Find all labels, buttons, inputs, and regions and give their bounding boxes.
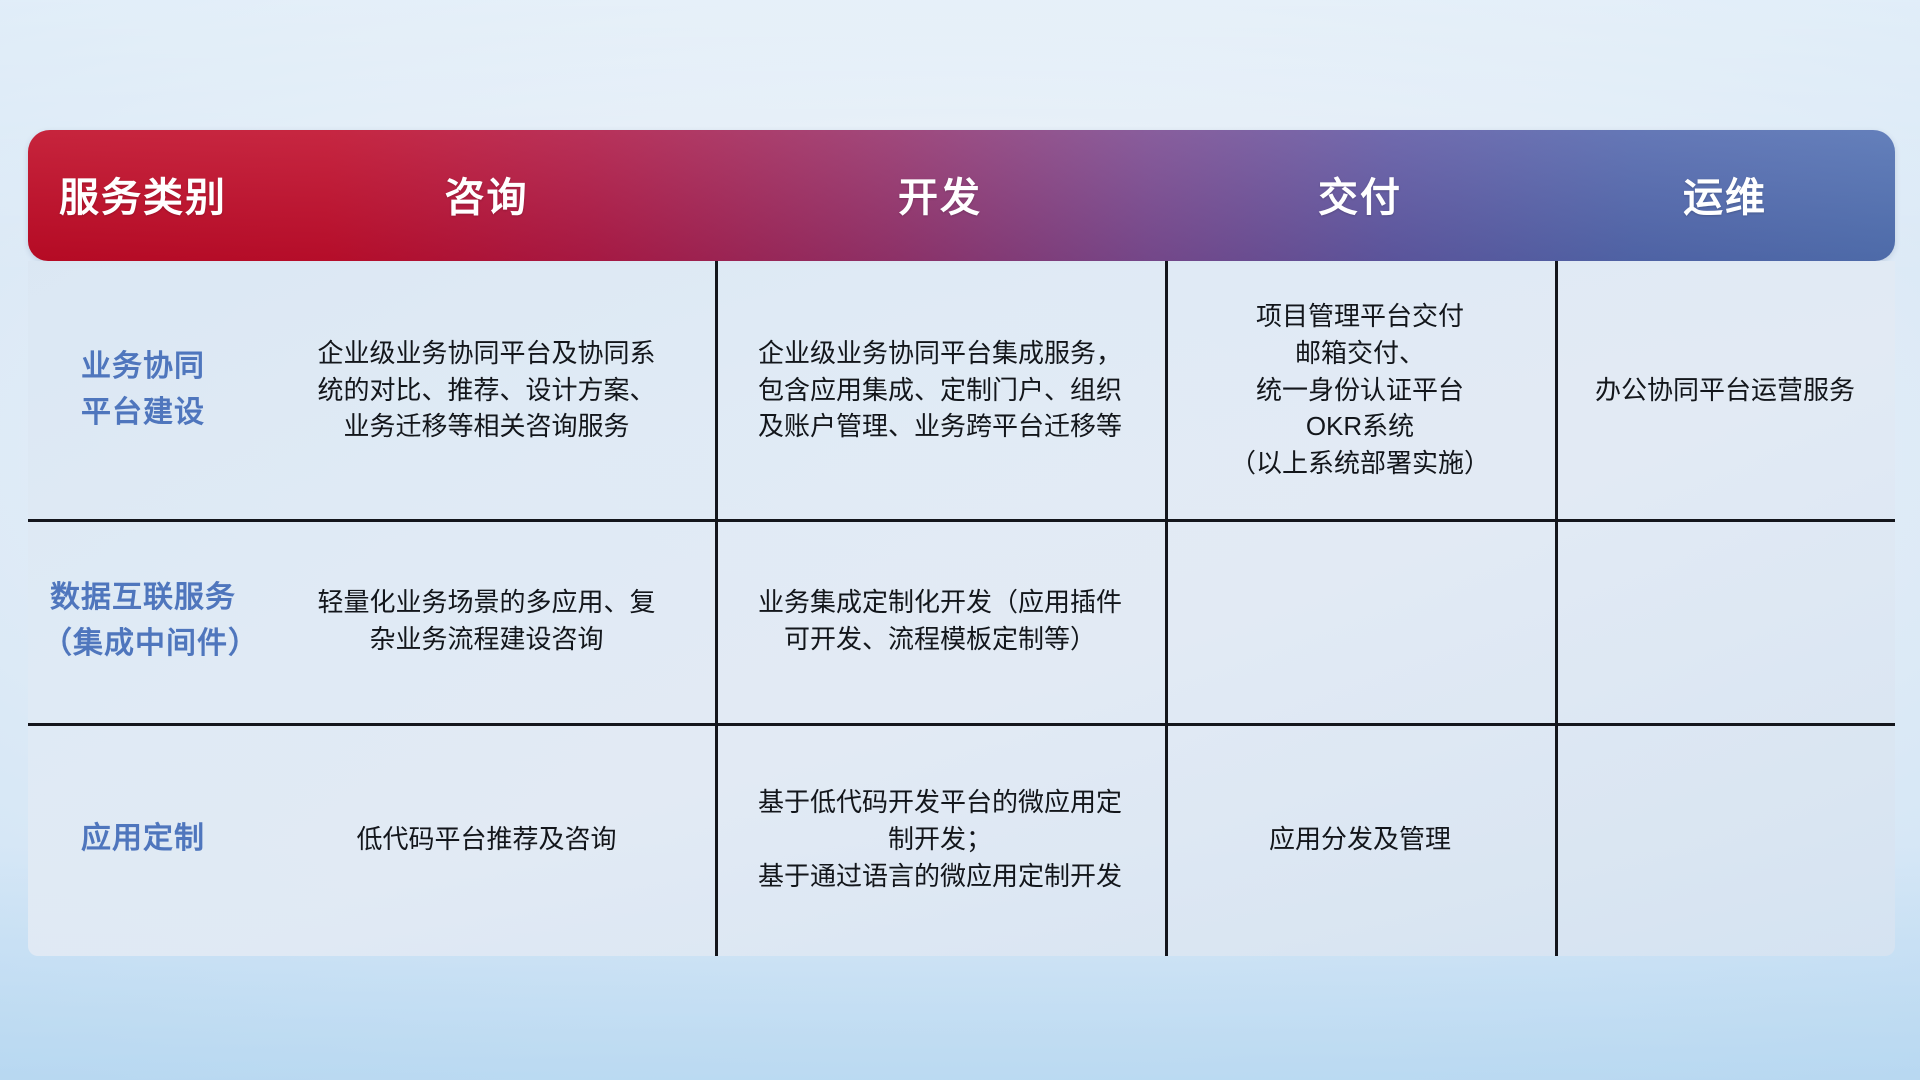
cell-category-1: 业务协同 平台建设 (28, 344, 258, 437)
column-divider-3 (1555, 261, 1558, 956)
column-divider-1 (715, 261, 718, 956)
table-row: 业务协同 平台建设 企业级业务协同平台及协同系 统的对比、推荐、设计方案、 业务… (28, 261, 1895, 519)
table-row: 数据互联服务 （集成中间件） 轻量化业务场景的多应用、复 杂业务流程建设咨询 业… (28, 519, 1895, 723)
column-divider-2 (1165, 261, 1168, 956)
cell-category-2: 数据互联服务 （集成中间件） (28, 575, 258, 668)
cell-delivery-3: 应用分发及管理 (1165, 821, 1555, 858)
row-divider-1 (28, 519, 1895, 522)
column-header-category: 服务类别 (28, 174, 258, 218)
cell-consulting-1: 企业级业务协同平台及协同系 统的对比、推荐、设计方案、 业务迁移等相关咨询服务 (258, 335, 715, 446)
cell-development-3: 基于低代码开发平台的微应用定 制开发； 基于通过语言的微应用定制开发 (715, 784, 1165, 895)
cell-consulting-3: 低代码平台推荐及咨询 (258, 821, 715, 858)
cell-development-1: 企业级业务协同平台集成服务， 包含应用集成、定制门户、组织 及账户管理、业务跨平… (715, 335, 1165, 446)
cell-category-3: 应用定制 (28, 816, 258, 863)
row-divider-2 (28, 723, 1895, 726)
cell-delivery-1: 项目管理平台交付 邮箱交付、 统一身份认证平台 OKR系统 （以上系统部署实施） (1165, 298, 1555, 483)
cell-consulting-2: 轻量化业务场景的多应用、复 杂业务流程建设咨询 (258, 584, 715, 658)
table-body: 业务协同 平台建设 企业级业务协同平台及协同系 统的对比、推荐、设计方案、 业务… (28, 261, 1895, 956)
table-row: 应用定制 低代码平台推荐及咨询 基于低代码开发平台的微应用定 制开发； 基于通过… (28, 723, 1895, 956)
column-header-consulting: 咨询 (258, 174, 715, 218)
cell-operations-1: 办公协同平台运营服务 (1555, 372, 1895, 409)
cell-development-2: 业务集成定制化开发（应用插件 可开发、流程模板定制等） (715, 584, 1165, 658)
column-header-operations: 运维 (1555, 174, 1895, 218)
column-header-delivery: 交付 (1165, 174, 1555, 218)
table-header-row: 服务类别 咨询 开发 交付 运维 (28, 130, 1895, 261)
service-matrix-table: 服务类别 咨询 开发 交付 运维 业务协同 平台建设 企业级业务协同平台及协同系… (28, 130, 1895, 956)
column-header-development: 开发 (715, 174, 1165, 218)
